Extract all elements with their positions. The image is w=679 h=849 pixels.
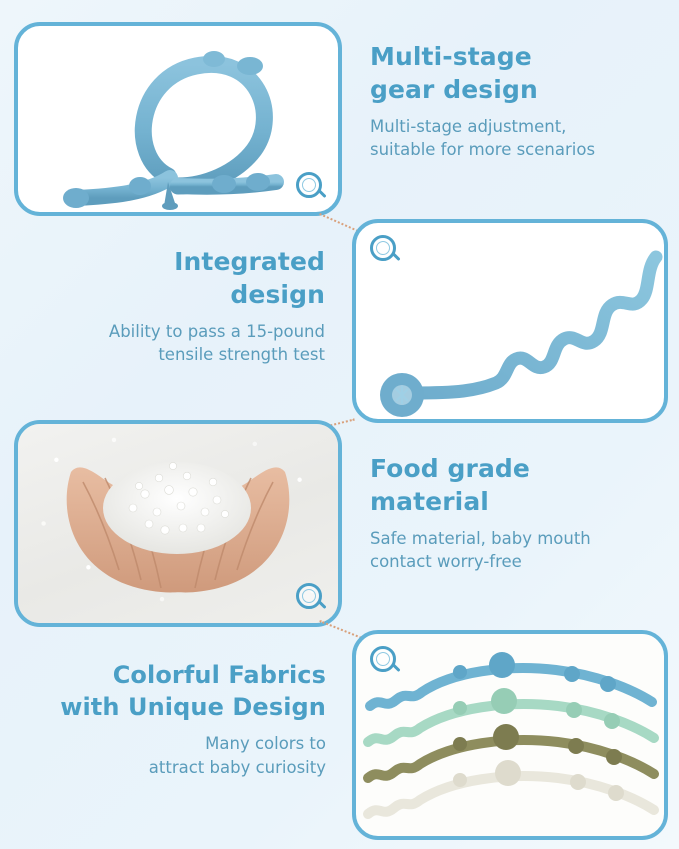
blue-loop-strap-illustration xyxy=(18,26,338,212)
infographic-page: Multi-stage gear design Multi-stage adju… xyxy=(0,0,679,849)
hands-holding-pellets-illustration xyxy=(53,442,303,612)
magnifier-icon xyxy=(370,235,396,261)
feature-headline: Food grade material xyxy=(370,452,660,518)
feature-subtext: Many colors to attract baby curiosity xyxy=(14,732,326,779)
feature-image-food-grade-material xyxy=(14,420,342,627)
feature-headline: Multi-stage gear design xyxy=(370,40,660,106)
magnifier-icon xyxy=(296,583,322,609)
colored-straps-illustration xyxy=(356,634,664,836)
feature-image-colorful-fabrics xyxy=(352,630,668,840)
feature-subtext: Multi-stage adjustment, suitable for mor… xyxy=(370,115,660,162)
feature-text-food-grade-material: Food grade material Safe material, baby … xyxy=(370,452,660,574)
feature-subtext: Safe material, baby mouth contact worry-… xyxy=(370,527,660,574)
feature-text-multi-stage-gear-design: Multi-stage gear design Multi-stage adju… xyxy=(370,40,660,162)
magnifier-icon xyxy=(296,172,322,198)
wavy-strap-illustration xyxy=(356,223,664,419)
feature-text-colorful-fabrics: Colorful Fabrics with Unique Design Many… xyxy=(14,660,326,779)
magnifier-icon xyxy=(370,646,396,672)
feature-subtext: Ability to pass a 15-pound tensile stren… xyxy=(40,320,325,367)
feature-image-multi-stage-gear-design xyxy=(14,22,342,216)
feature-headline: Colorful Fabrics with Unique Design xyxy=(14,660,326,723)
feature-headline: Integrated design xyxy=(40,245,325,311)
feature-image-integrated-design xyxy=(352,219,668,423)
feature-text-integrated-design: Integrated design Ability to pass a 15-p… xyxy=(40,245,325,367)
